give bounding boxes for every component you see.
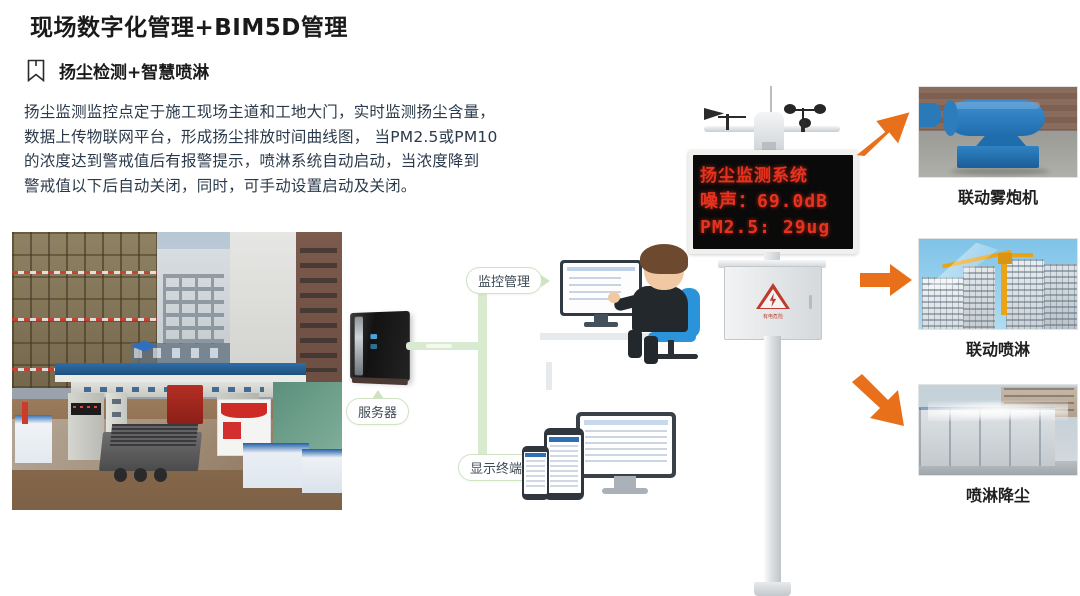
card-tower-crane-spray: 联动喷淋 [918, 238, 1078, 360]
dust-monitoring-station: 扬尘监测系统 噪声：69.0dB PM2.5: 29ug 有电危险 [688, 86, 858, 516]
terminal-monitor-screen [580, 416, 672, 474]
construction-site-photo [12, 232, 342, 510]
wind-vane-icon [704, 108, 748, 130]
photo-scaffold-stripe [12, 318, 157, 321]
terminal-phone-icon [522, 446, 549, 500]
photo-building-right [230, 232, 296, 377]
terminal-tablet-screen [547, 435, 581, 493]
section-heading-label: 扬尘检测+智慧喷淋 [59, 58, 209, 83]
wind-vane-post [726, 114, 729, 130]
terminal-monitor-icon [576, 412, 676, 478]
photo-spray-mist [928, 398, 1067, 421]
photo-building [1006, 259, 1044, 329]
led-line-pm25: PM2.5: 29ug [700, 215, 846, 241]
led-screen: 扬尘监测系统 噪声：69.0dB PM2.5: 29ug [693, 155, 853, 249]
photo-truck-cab [167, 385, 203, 424]
photo-gate-beam-lower [55, 375, 306, 382]
card-fog-cannon: 联动雾炮机 [918, 86, 1078, 208]
label-monitoring-text: 监控管理 [478, 275, 530, 290]
terminal-monitor-stand [614, 476, 636, 488]
photo-scaffold-stripe [12, 271, 157, 274]
photo-barrel-ring [943, 100, 959, 136]
label-monitoring-management: 监控管理 [466, 267, 542, 294]
photo-cannon-base [957, 146, 1039, 168]
pole-base [754, 582, 791, 596]
display-terminals-illustration [522, 410, 702, 516]
paragraph-line: 警戒值以下后自动关闭，同时，可手动设置启动及关闭。 [24, 174, 604, 199]
pole-mast [764, 336, 781, 584]
card-caption: 喷淋降尘 [918, 482, 1078, 506]
fence-spray-photo [918, 384, 1078, 476]
photo-rebar-load [110, 424, 198, 446]
fog-cannon-photo [918, 86, 1078, 178]
photo-windows [1044, 264, 1077, 329]
connector-dash [426, 344, 452, 348]
terminal-monitor-base [602, 488, 648, 494]
photo-building [1044, 264, 1077, 329]
electrical-hazard-icon [756, 283, 790, 313]
photo-cannon-barrel [947, 100, 1045, 136]
photo-windows [963, 266, 995, 329]
arrow-right-icon [858, 262, 914, 298]
section-heading: 扬尘检测+智慧喷淋 [27, 58, 209, 83]
server-led-icon [370, 344, 377, 349]
photo-blue-signboard [302, 449, 342, 493]
card-fence-spray: 喷淋降尘 [918, 384, 1078, 506]
slide-page: 现场数字化管理+BIM5D管理 扬尘检测+智慧喷淋 扬尘监测监控点定于施工现场主… [0, 0, 1080, 516]
label-server: 服务器 [346, 398, 409, 425]
card-caption: 联动雾炮机 [918, 184, 1078, 208]
control-cabinet: 有电危险 [724, 266, 822, 340]
label-display-text: 显示终端 [470, 462, 522, 477]
person-leg [644, 336, 658, 364]
cabinet-latch [809, 295, 812, 309]
photo-green-signboard [273, 382, 342, 449]
server-front-panel [355, 317, 363, 376]
anemometer-icon [784, 104, 830, 130]
anemometer-cup [784, 104, 796, 114]
hazard-label: 有电危险 [751, 313, 795, 320]
terminal-phone-screen [524, 452, 547, 494]
photo-building [963, 266, 995, 329]
photo-windows [1006, 259, 1044, 329]
wind-vane-tail [704, 108, 724, 120]
card-caption: 联动喷淋 [918, 336, 1078, 360]
led-line-title: 扬尘监测系统 [700, 163, 846, 189]
page-title: 现场数字化管理+BIM5D管理 [30, 8, 348, 42]
server-base [352, 377, 408, 385]
photo-blue-signboard [243, 443, 309, 487]
server-illustration [350, 311, 410, 381]
photo-gate-pillar-left [68, 393, 104, 460]
terminal-tablet-icon [544, 428, 584, 500]
person-hand [608, 292, 620, 303]
paragraph-line: 扬尘监测监控点定于施工现场主道和工地大门，实时监测扬尘含量， [24, 100, 604, 125]
person-leg [628, 330, 642, 358]
photo-flag [22, 402, 29, 424]
operator-workstation-illustration [540, 244, 700, 364]
arrow-down-right-icon [848, 374, 910, 434]
server-led-icon [370, 334, 377, 339]
led-display-board: 扬尘监测系统 噪声：69.0dB PM2.5: 29ug [688, 150, 858, 254]
photo-side-signboard [15, 415, 51, 462]
desk-leg [546, 362, 552, 390]
monitor-base [584, 322, 618, 327]
bookmark-icon [27, 59, 45, 82]
photo-gate-led-screen [71, 403, 101, 415]
anemometer-post [801, 120, 805, 132]
person-hair [640, 244, 688, 274]
description-paragraph: 扬尘监测监控点定于施工现场主道和工地大门，实时监测扬尘含量， 数据上传物联网平台… [24, 100, 604, 198]
anemometer-cup [814, 104, 826, 114]
led-line-noise: 噪声：69.0dB [700, 189, 846, 215]
tower-crane-spray-photo [918, 238, 1078, 330]
wind-vane-rod [718, 116, 746, 118]
paragraph-line: 数据上传物联网平台，形成扬尘排放时间曲线图， 当PM2.5或PM10 [24, 125, 604, 150]
sensor-hub [754, 112, 784, 152]
label-server-text: 服务器 [358, 406, 397, 421]
network-diagram: 服务器 监控管理 显示终端 [340, 250, 700, 516]
photo-secondary-barrel [919, 103, 941, 126]
photo-crane-cab [998, 253, 1012, 264]
arrow-up-right-icon [855, 100, 915, 162]
paragraph-line: 的浓度达到警戒值后有报警提示，喷淋系统自动启动，当浓度降到 [24, 149, 604, 174]
photo-gate-beam [55, 363, 306, 375]
